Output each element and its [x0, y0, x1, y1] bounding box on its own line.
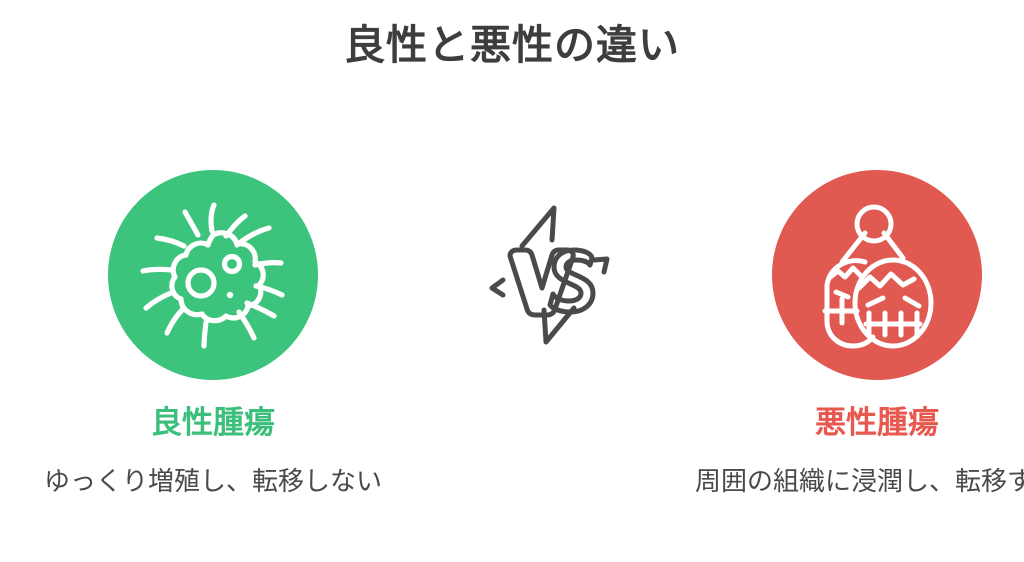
malignant-cells-icon — [802, 200, 952, 350]
benign-circle — [108, 170, 318, 380]
page-title: 良性と悪性の違い — [0, 20, 1024, 71]
malignant-description: 周囲の組織に浸潤し、転移する — [667, 463, 1024, 500]
benign-cell-icon — [138, 200, 288, 350]
malignant-icon-wrap — [667, 170, 1024, 380]
malignant-label: 悪性腫瘍 — [667, 404, 1024, 441]
column-benign: 良性腫瘍 ゆっくり増殖し、転移しない — [3, 170, 423, 500]
benign-label: 良性腫瘍 — [3, 404, 423, 441]
vs-divider — [482, 198, 622, 353]
slide-canvas: 良性と悪性の違い — [0, 0, 1024, 562]
benign-description: ゆっくり増殖し、転移しない — [3, 463, 423, 500]
benign-icon-wrap — [3, 170, 423, 380]
vs-burst-icon — [482, 198, 622, 353]
column-malignant: 悪性腫瘍 周囲の組織に浸潤し、転移する — [667, 170, 1024, 500]
malignant-circle — [772, 170, 982, 380]
